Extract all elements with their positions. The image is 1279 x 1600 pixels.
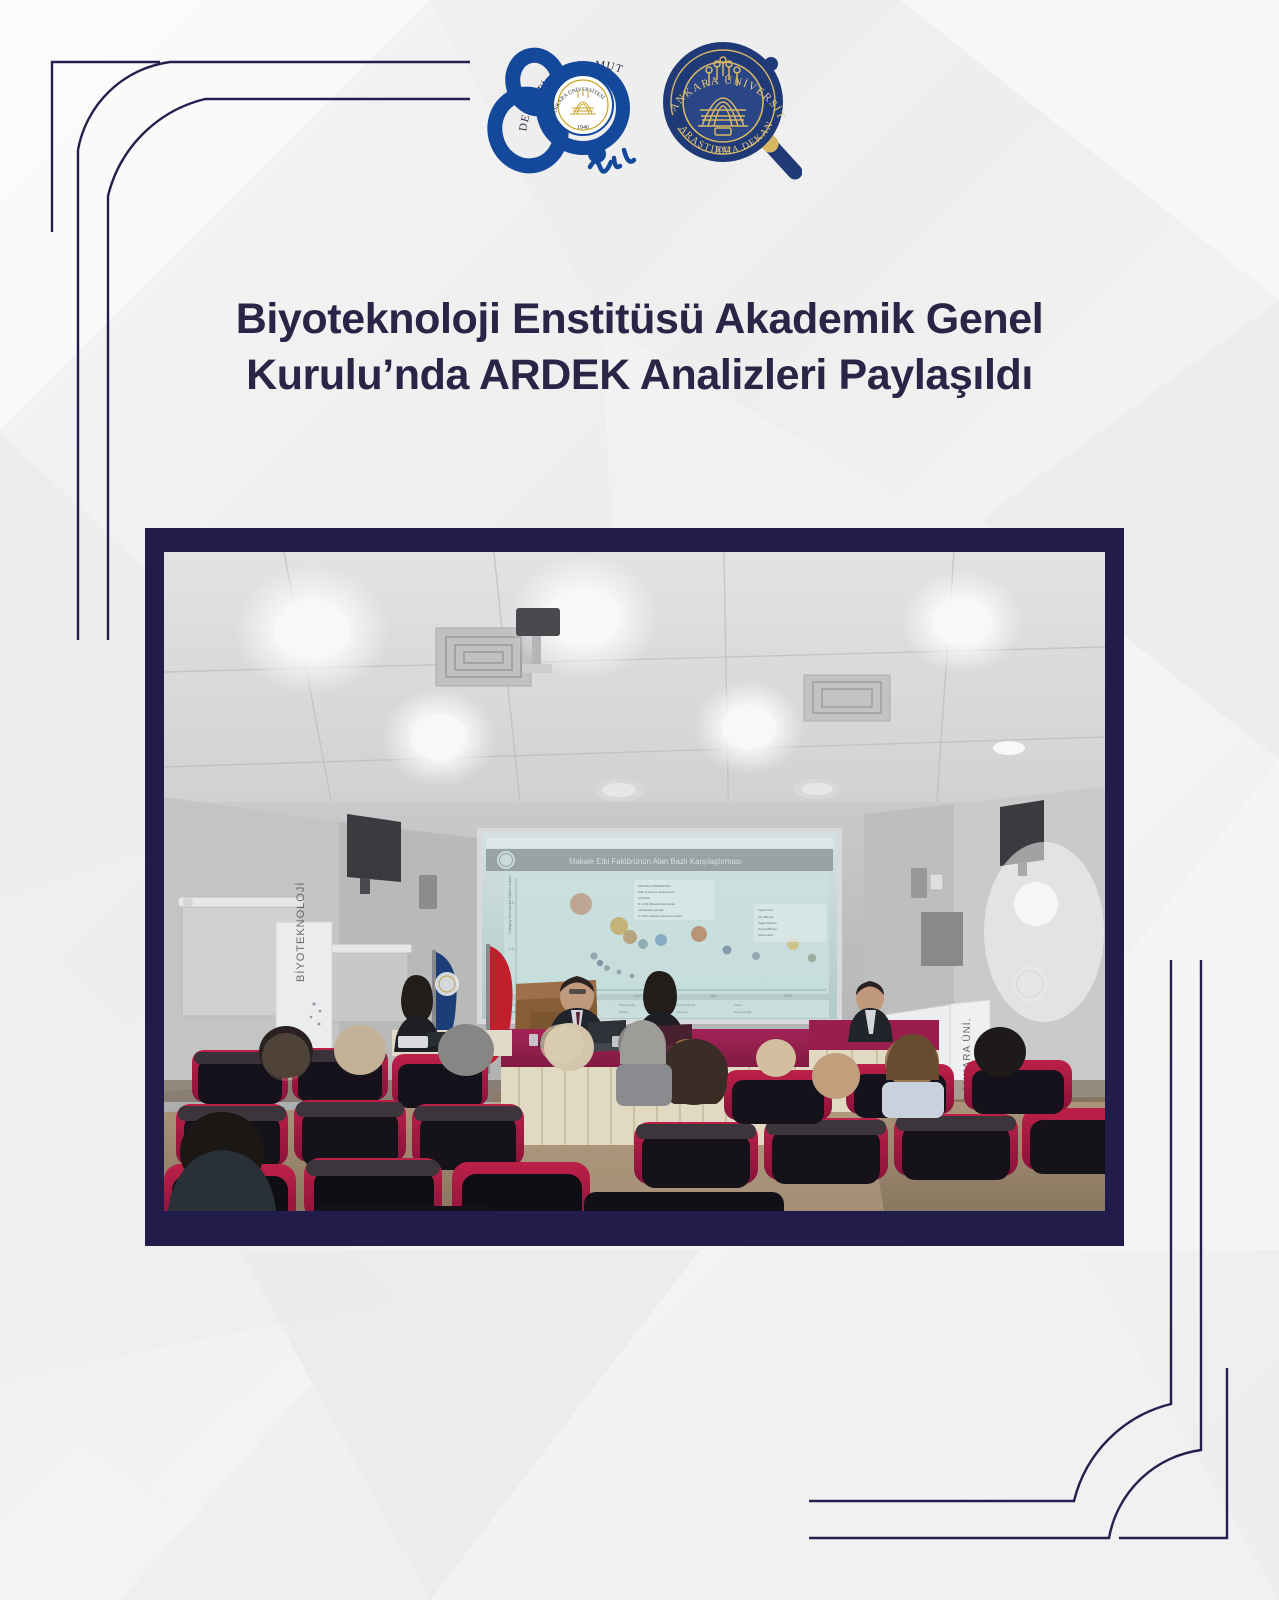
photo-frame: Makale Etki Faktörünün Alan Bazlı Karşıl… <box>145 528 1124 1246</box>
logo-ardek-year: 2022 <box>715 145 731 154</box>
logo-80-seal-year: 1946 <box>577 125 589 131</box>
event-photo: Makale Etki Faktörünün Alan Bazlı Karşıl… <box>164 552 1105 1211</box>
logo-bar: DEVLETİN FİKİR MUTFAĞI ANKARA ÜNİVERSİTE… <box>0 30 1279 190</box>
page-title: Biyoteknoloji Enstitüsü Akademik Genel K… <box>0 292 1279 404</box>
logo-ardek: ANKARA ÜNİVERSİTESİ ARAŞTIRMA DEKANLIĞI … <box>652 30 802 190</box>
title-block: Biyoteknoloji Enstitüsü Akademik Genel K… <box>0 292 1279 404</box>
logo-80-yil: DEVLETİN FİKİR MUTFAĞI ANKARA ÜNİVERSİTE… <box>478 30 638 190</box>
